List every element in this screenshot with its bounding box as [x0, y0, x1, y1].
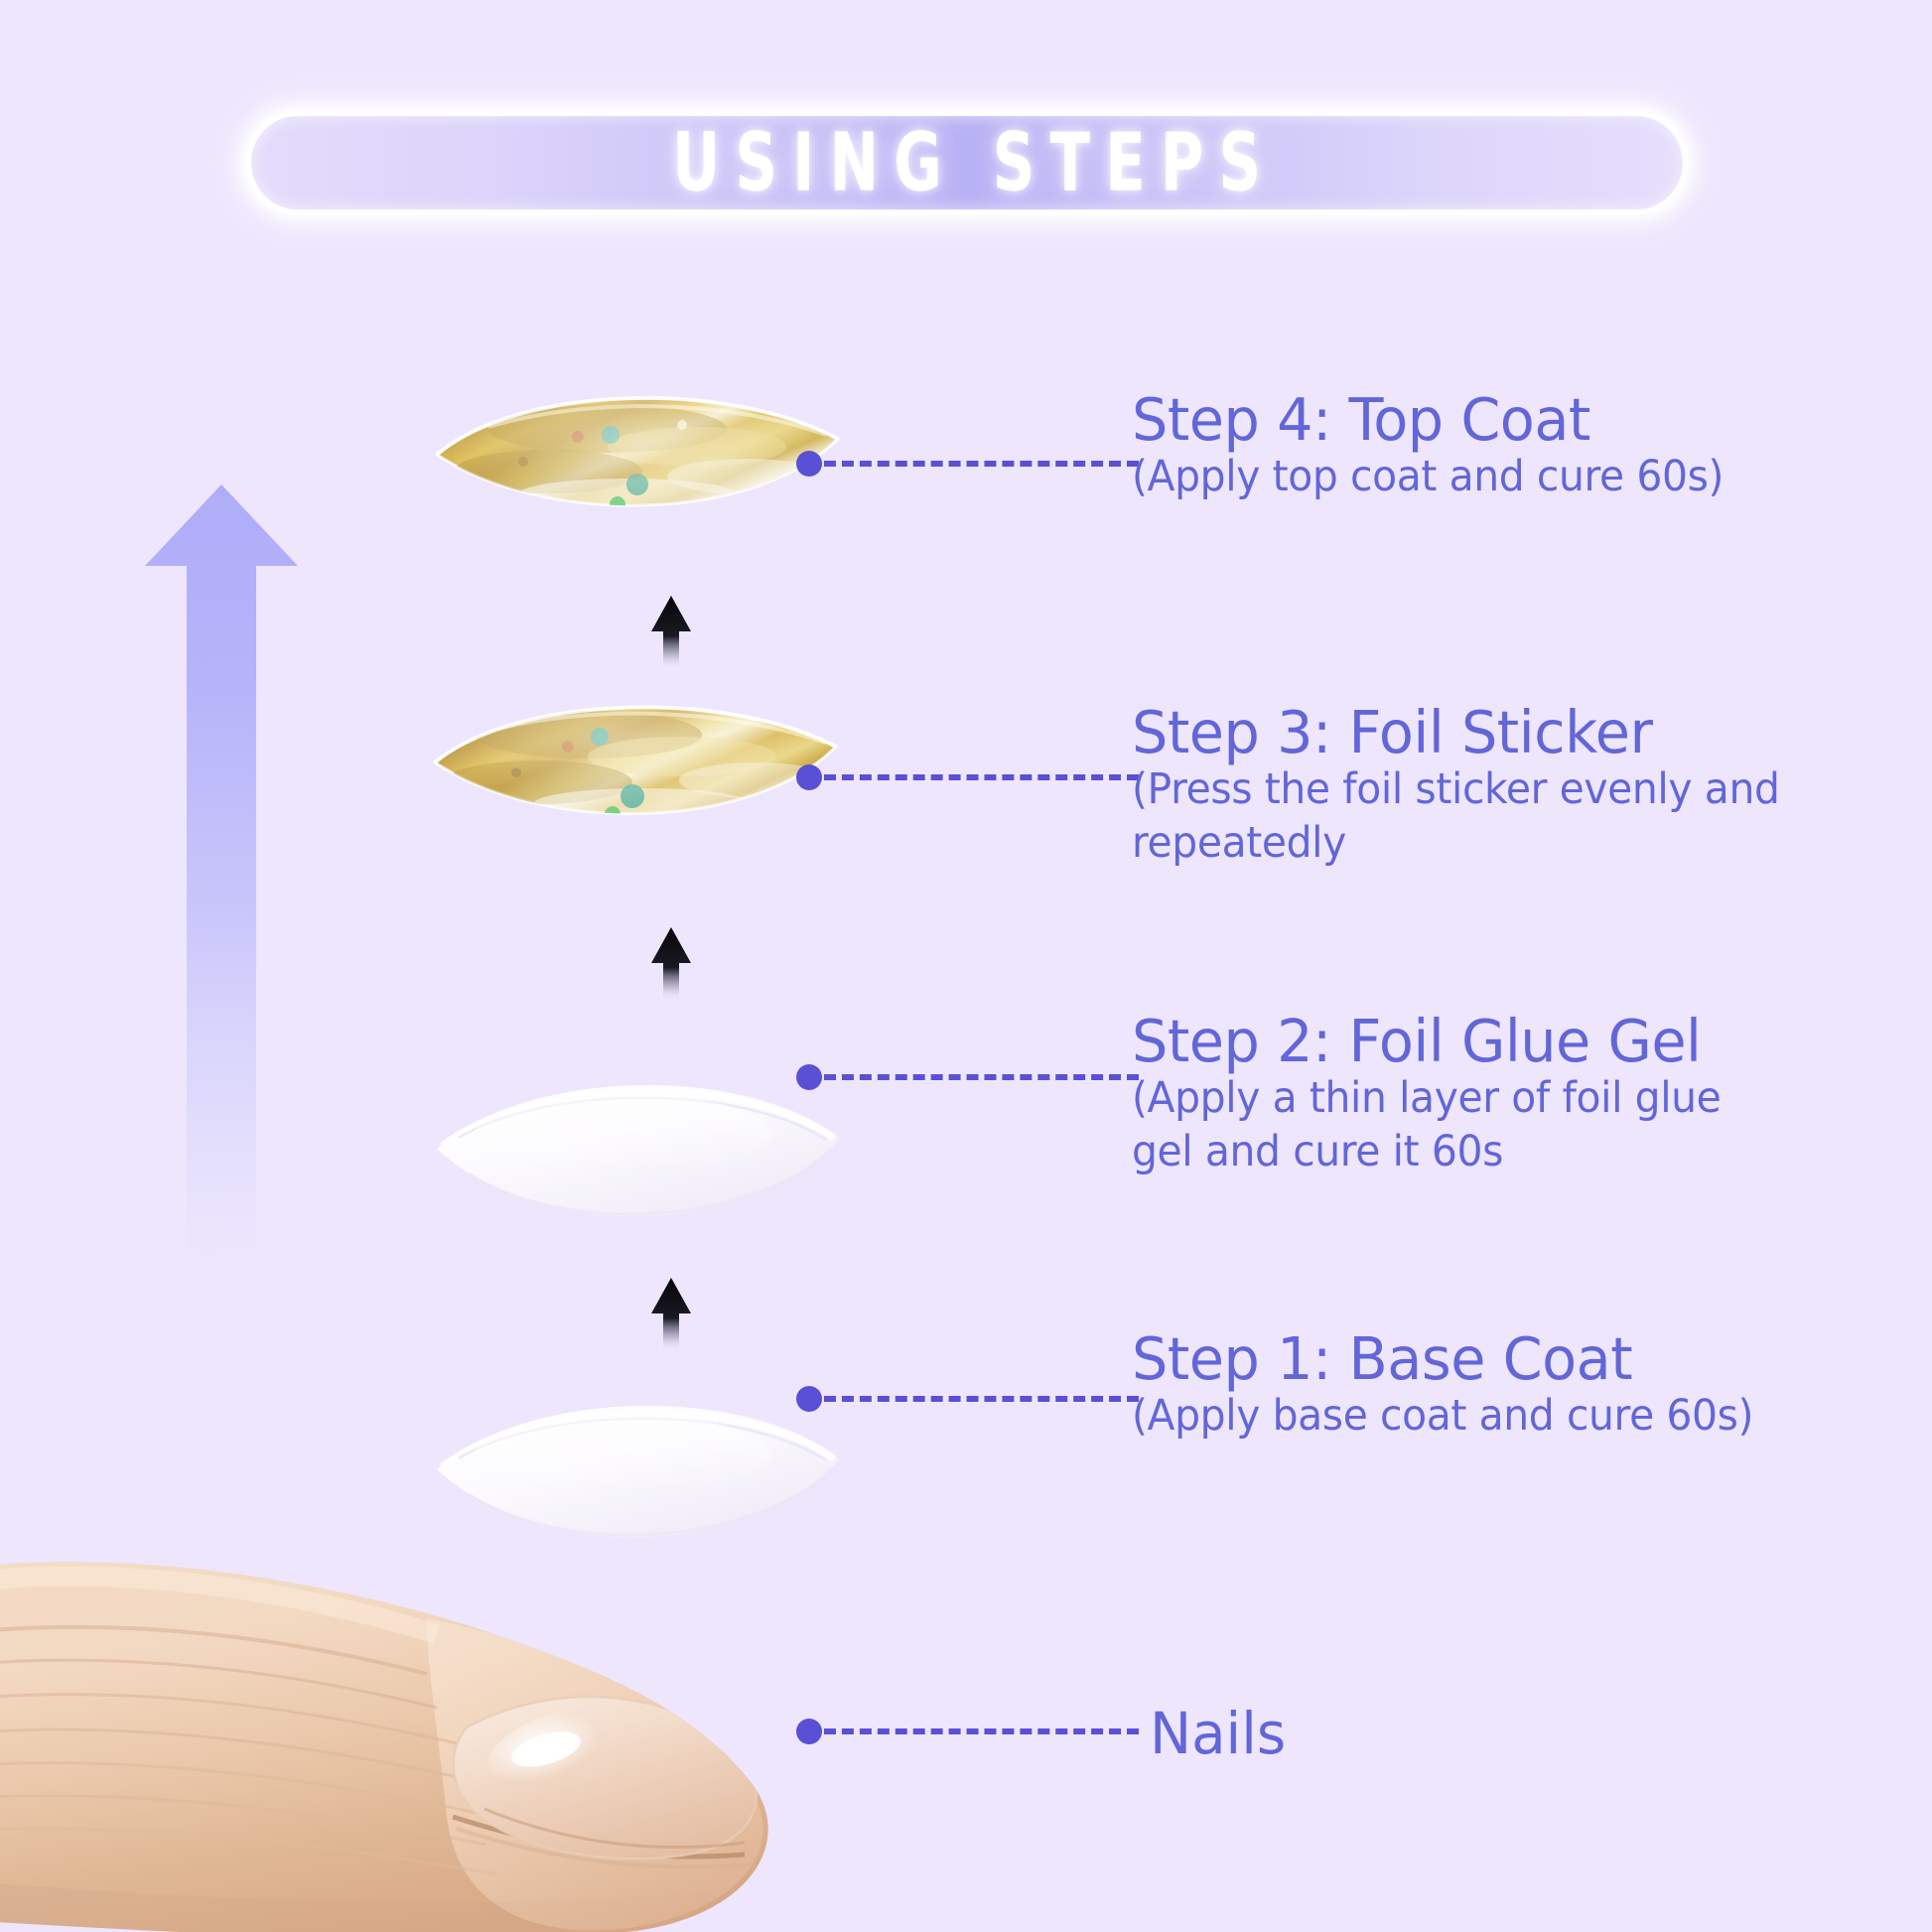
step-label-step-1: Step 1: Base Coat (Apply base coat and c…: [1132, 1328, 1827, 1444]
connector-dot-icon: [796, 1064, 822, 1090]
connector-dot-icon: [796, 451, 822, 477]
gold-foil-nail-shape-icon: [429, 685, 846, 844]
step-title: Step 3: Foil Sticker: [1132, 702, 1806, 763]
gold-foil-nail-shape-icon: [429, 377, 846, 536]
step-label-step-2: Step 2: Foil Glue Gel (Apply a thin laye…: [1132, 1011, 1827, 1178]
step-label-step-3: Step 3: Foil Sticker (Press the foil sti…: [1132, 702, 1827, 870]
step-label-step-4: Step 4: Top Coat (Apply top coat and cur…: [1132, 389, 1754, 504]
connector-nails: [796, 1721, 1139, 1742]
clear-white-nail-shape-icon: [429, 1054, 846, 1253]
finger-photo: [0, 1519, 854, 1932]
flow-arrow-step3-to-step4: [649, 594, 693, 669]
page-title-banner: USING STEPS: [246, 111, 1688, 214]
step-title: Step 1: Base Coat: [1132, 1328, 1806, 1390]
connector-dot-icon: [796, 764, 822, 790]
connector-dot-icon: [796, 1386, 822, 1412]
connector-dot-icon: [796, 1719, 822, 1744]
page-title: USING STEPS: [657, 116, 1276, 210]
connector-step-3: [796, 766, 1139, 788]
step-description: (Apply a thin layer of foil glue gel and…: [1132, 1072, 1792, 1179]
finger-with-natural-nail-illustration: [0, 1519, 854, 1932]
small-up-arrow-icon: [649, 594, 693, 669]
flow-arrow-step2-to-step3: [649, 925, 693, 1001]
foil-sticker-layer: [429, 685, 846, 844]
connector-step-2: [796, 1066, 1139, 1088]
connector-step-1: [796, 1388, 1139, 1410]
connector-dashed-line: [824, 774, 1139, 780]
step-description: (Apply base coat and cure 60s): [1132, 1390, 1792, 1444]
flow-arrow-step1-to-step2: [649, 1276, 693, 1351]
nails-label: Nails: [1150, 1700, 1286, 1767]
step-description: (Press the foil sticker evenly and repea…: [1132, 763, 1792, 871]
connector-dashed-line: [824, 1728, 1139, 1734]
small-up-arrow-icon: [649, 925, 693, 1001]
step-description: (Apply top coat and cure 60s): [1132, 451, 1724, 504]
step-title: Step 2: Foil Glue Gel: [1132, 1011, 1806, 1072]
infographic-canvas: USING STEPS: [0, 0, 1932, 1932]
foil-glue-gel-layer: [429, 1054, 846, 1253]
up-arrow-icon: [127, 477, 316, 1370]
top-coat-layer: [429, 377, 846, 536]
step-title: Step 4: Top Coat: [1132, 389, 1736, 451]
process-direction-arrow: [127, 477, 316, 1370]
connector-dashed-line: [824, 1396, 1139, 1402]
connector-dashed-line: [824, 461, 1139, 467]
connector-dashed-line: [824, 1074, 1139, 1080]
small-up-arrow-icon: [649, 1276, 693, 1351]
connector-step-4: [796, 453, 1139, 475]
